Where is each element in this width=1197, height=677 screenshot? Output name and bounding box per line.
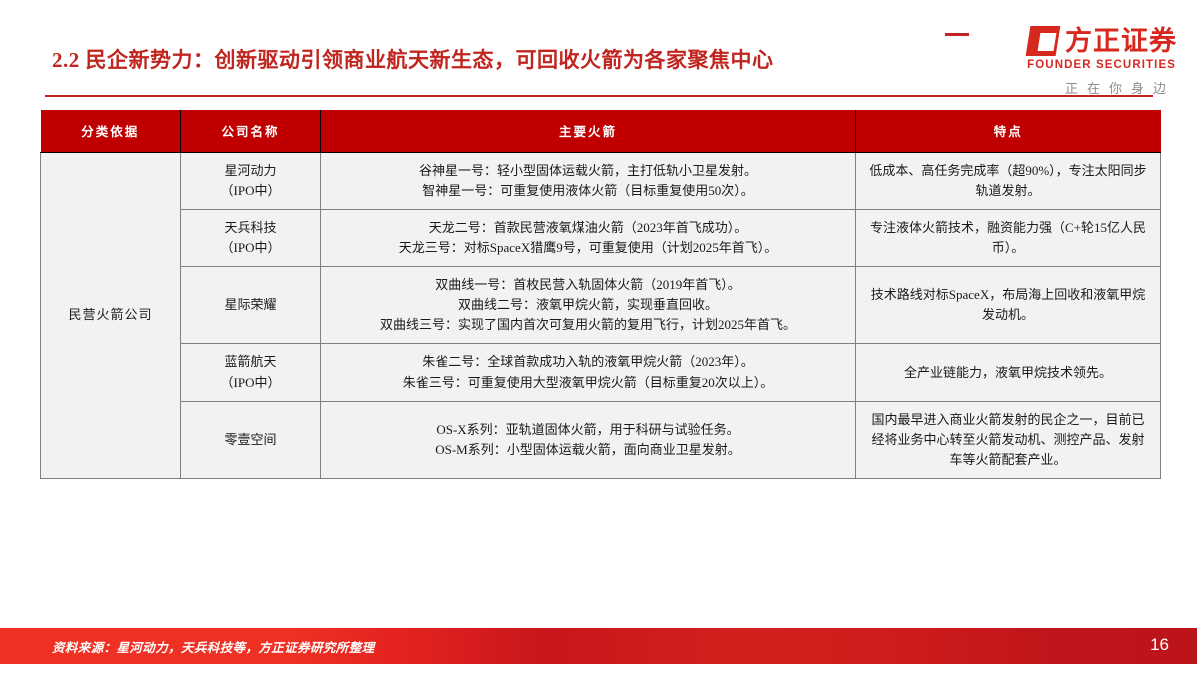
company-cell: 蓝箭航天 （IPO中） bbox=[181, 344, 321, 401]
features-cell: 国内最早进入商业火箭发射的民企之一，目前已经将业务中心转至火箭发动机、测控产品、… bbox=[856, 401, 1161, 478]
company-cell: 天兵科技 （IPO中） bbox=[181, 209, 321, 266]
logo-name-en: FOUNDER SECURITIES bbox=[977, 59, 1177, 71]
logo-primary-row: 方正证券 bbox=[977, 24, 1177, 58]
rockets-cell: 双曲线一号：首枚民营入轨固体火箭（2019年首飞）。 双曲线二号：液氧甲烷火箭，… bbox=[321, 267, 856, 344]
slide-header: 2.2 民企新势力：创新驱动引领商业航天新生态，可回收火箭为各家聚焦中心 方正证… bbox=[0, 0, 1197, 100]
table-row: 蓝箭航天 （IPO中） 朱雀二号：全球首款成功入轨的液氧甲烷火箭（2023年）。… bbox=[41, 344, 1161, 401]
logo-tagline: 正在你身边 bbox=[1065, 78, 1177, 97]
features-cell: 技术路线对标SpaceX，布局海上回收和液氧甲烷发动机。 bbox=[856, 267, 1161, 344]
table-head: 分类依据 公司名称 主要火箭 特点 bbox=[41, 110, 1161, 152]
rockets-cell: 谷神星一号：轻小型固体运载火箭，主打低轨小卫星发射。 智神星一号：可重复使用液体… bbox=[321, 152, 856, 209]
table-row: 民营火箭公司 星河动力 （IPO中） 谷神星一号：轻小型固体运载火箭，主打低轨小… bbox=[41, 152, 1161, 209]
source-note: 资料来源：星河动力，天兵科技等，方正证券研究所整理 bbox=[52, 637, 375, 656]
column-header-rockets: 主要火箭 bbox=[321, 110, 856, 152]
table-header-row: 分类依据 公司名称 主要火箭 特点 bbox=[41, 110, 1161, 152]
footer-bar: 资料来源：星河动力，天兵科技等，方正证券研究所整理 16 bbox=[0, 628, 1197, 664]
logo-name-cn: 方正证券 bbox=[1065, 26, 1177, 56]
rocket-companies-table: 分类依据 公司名称 主要火箭 特点 民营火箭公司 星河动力 （IPO中） 谷神星… bbox=[40, 110, 1161, 479]
table-body: 民营火箭公司 星河动力 （IPO中） 谷神星一号：轻小型固体运载火箭，主打低轨小… bbox=[41, 152, 1161, 479]
column-header-features: 特点 bbox=[856, 110, 1161, 152]
table-row: 天兵科技 （IPO中） 天龙二号：首款民营液氧煤油火箭（2023年首飞成功）。 … bbox=[41, 209, 1161, 266]
page-title: 2.2 民企新势力：创新驱动引领商业航天新生态，可回收火箭为各家聚焦中心 bbox=[52, 44, 774, 74]
features-cell: 全产业链能力，液氧甲烷技术领先。 bbox=[856, 344, 1161, 401]
tagline-rule bbox=[945, 33, 969, 36]
slide: 2.2 民企新势力：创新驱动引领商业航天新生态，可回收火箭为各家聚焦中心 方正证… bbox=[0, 0, 1197, 677]
category-cell: 民营火箭公司 bbox=[41, 152, 181, 479]
column-header-category: 分类依据 bbox=[41, 110, 181, 152]
features-cell: 专注液体火箭技术，融资能力强（C+轮15亿人民币）。 bbox=[856, 209, 1161, 266]
table-row: 零壹空间 OS-X系列：亚轨道固体火箭，用于科研与试验任务。 OS-M系列：小型… bbox=[41, 401, 1161, 478]
rocket-companies-table-wrapper: 分类依据 公司名称 主要火箭 特点 民营火箭公司 星河动力 （IPO中） 谷神星… bbox=[40, 110, 1160, 479]
rockets-cell: OS-X系列：亚轨道固体火箭，用于科研与试验任务。 OS-M系列：小型固体运载火… bbox=[321, 401, 856, 478]
rockets-cell: 朱雀二号：全球首款成功入轨的液氧甲烷火箭（2023年）。 朱雀三号：可重复使用大… bbox=[321, 344, 856, 401]
page-number: 16 bbox=[1150, 635, 1169, 655]
company-logo: 方正证券 FOUNDER SECURITIES 正在你身边 bbox=[977, 24, 1177, 90]
logo-tagline-row: 正在你身边 bbox=[977, 78, 1177, 97]
features-cell: 低成本、高任务完成率（超90%），专注太阳同步轨道发射。 bbox=[856, 152, 1161, 209]
company-cell: 星际荣耀 bbox=[181, 267, 321, 344]
table-row: 星际荣耀 双曲线一号：首枚民营入轨固体火箭（2019年首飞）。 双曲线二号：液氧… bbox=[41, 267, 1161, 344]
company-cell: 零壹空间 bbox=[181, 401, 321, 478]
company-cell: 星河动力 （IPO中） bbox=[181, 152, 321, 209]
founder-securities-mark-icon bbox=[1028, 26, 1058, 56]
rockets-cell: 天龙二号：首款民营液氧煤油火箭（2023年首飞成功）。 天龙三号：对标Space… bbox=[321, 209, 856, 266]
column-header-company: 公司名称 bbox=[181, 110, 321, 152]
